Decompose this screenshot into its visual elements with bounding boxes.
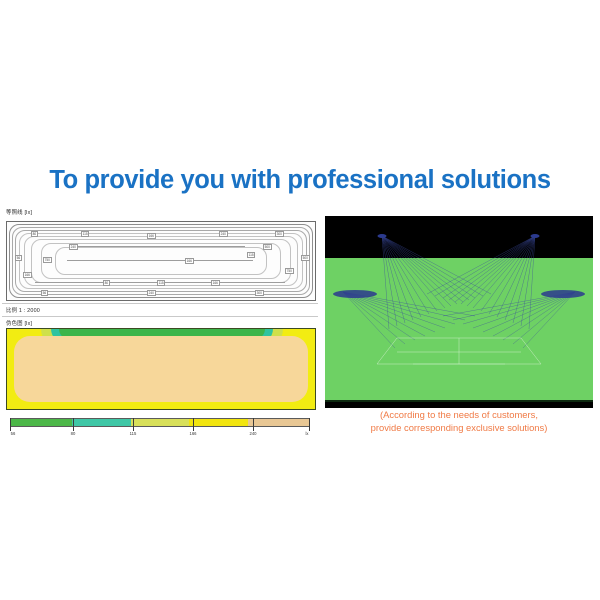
- scale-tick-label: 56: [11, 431, 16, 436]
- fc-band-core: [14, 336, 308, 402]
- false-colour-illuminance-map: [6, 328, 316, 410]
- scale-segment: [11, 419, 72, 426]
- isolux-label: 等照线 [lx]: [6, 208, 32, 216]
- ground-foreground: [325, 402, 593, 408]
- slide-canvas: To provide you with professional solutio…: [0, 0, 600, 600]
- contour-label: 300: [275, 231, 284, 237]
- caption-line-1: (According to the needs of customers,: [380, 409, 538, 420]
- page-title: To provide you with professional solutio…: [0, 166, 600, 195]
- caption-line-2: provide corresponding exclusive solution…: [371, 422, 548, 433]
- contour-label: 166: [211, 280, 220, 286]
- contour-label: 166: [185, 258, 194, 264]
- scale-segment: [189, 419, 247, 426]
- contour-label: 80: [31, 231, 38, 237]
- contour-label: 80: [103, 280, 110, 286]
- divider: [2, 303, 318, 304]
- stadium-3d-render: [325, 216, 593, 408]
- contour-label: 240: [219, 231, 228, 237]
- scale-segment: [248, 419, 309, 426]
- contour-label: 115: [81, 231, 89, 237]
- contour-label: 115: [247, 252, 255, 258]
- render-canvas: [325, 216, 593, 408]
- illuminance-scale-legend: 56 80 115 166 240 lx: [10, 418, 310, 440]
- contour-label: 300: [255, 290, 264, 296]
- pitch-edge-shadow: [325, 400, 593, 402]
- pitch-ground-plane: [325, 258, 593, 402]
- contour-label: 240: [69, 244, 78, 250]
- scale-unit-label: lx: [305, 431, 308, 436]
- scale-tick-label: 166: [190, 431, 197, 436]
- lighting-calculation-sheet: 等照线 [lx] 56 80 115 166 240 300 500 750 2…: [2, 206, 318, 444]
- scale-segment: [131, 419, 189, 426]
- contour-label: 56: [41, 290, 48, 296]
- contour-label: 500: [301, 255, 310, 261]
- falsecolor-label: 伪色图 [lx]: [6, 319, 32, 327]
- floodlight-mast-upper-right: [531, 234, 540, 238]
- contour-label: 500: [263, 244, 272, 250]
- scale-tick-label: 115: [130, 431, 137, 436]
- scale-bar: [10, 418, 310, 427]
- scale-segment: [72, 419, 130, 426]
- contour-label: 240: [147, 290, 156, 296]
- divider: [2, 316, 318, 317]
- contour-label: 115: [157, 280, 165, 286]
- scale-tick-label: 80: [71, 431, 76, 436]
- contour-label: 166: [23, 272, 32, 278]
- caption-block: (According to the needs of customers, pr…: [325, 409, 593, 434]
- contour-label: 750: [285, 268, 294, 274]
- isolux-contour-diagram: 56 80 115 166 240 300 500 750 240 166 11…: [6, 221, 316, 301]
- scale-tick-label: 240: [250, 431, 257, 436]
- contour-label: 166: [147, 233, 156, 239]
- contour-label: 56: [15, 255, 22, 261]
- scale-label: 比例 1 : 2000: [6, 306, 40, 314]
- contour-label: 750: [43, 257, 52, 263]
- floodlight-mast-lower-left: [333, 290, 377, 298]
- floodlight-mast-upper-left: [378, 234, 387, 238]
- floodlight-mast-lower-right: [541, 290, 585, 298]
